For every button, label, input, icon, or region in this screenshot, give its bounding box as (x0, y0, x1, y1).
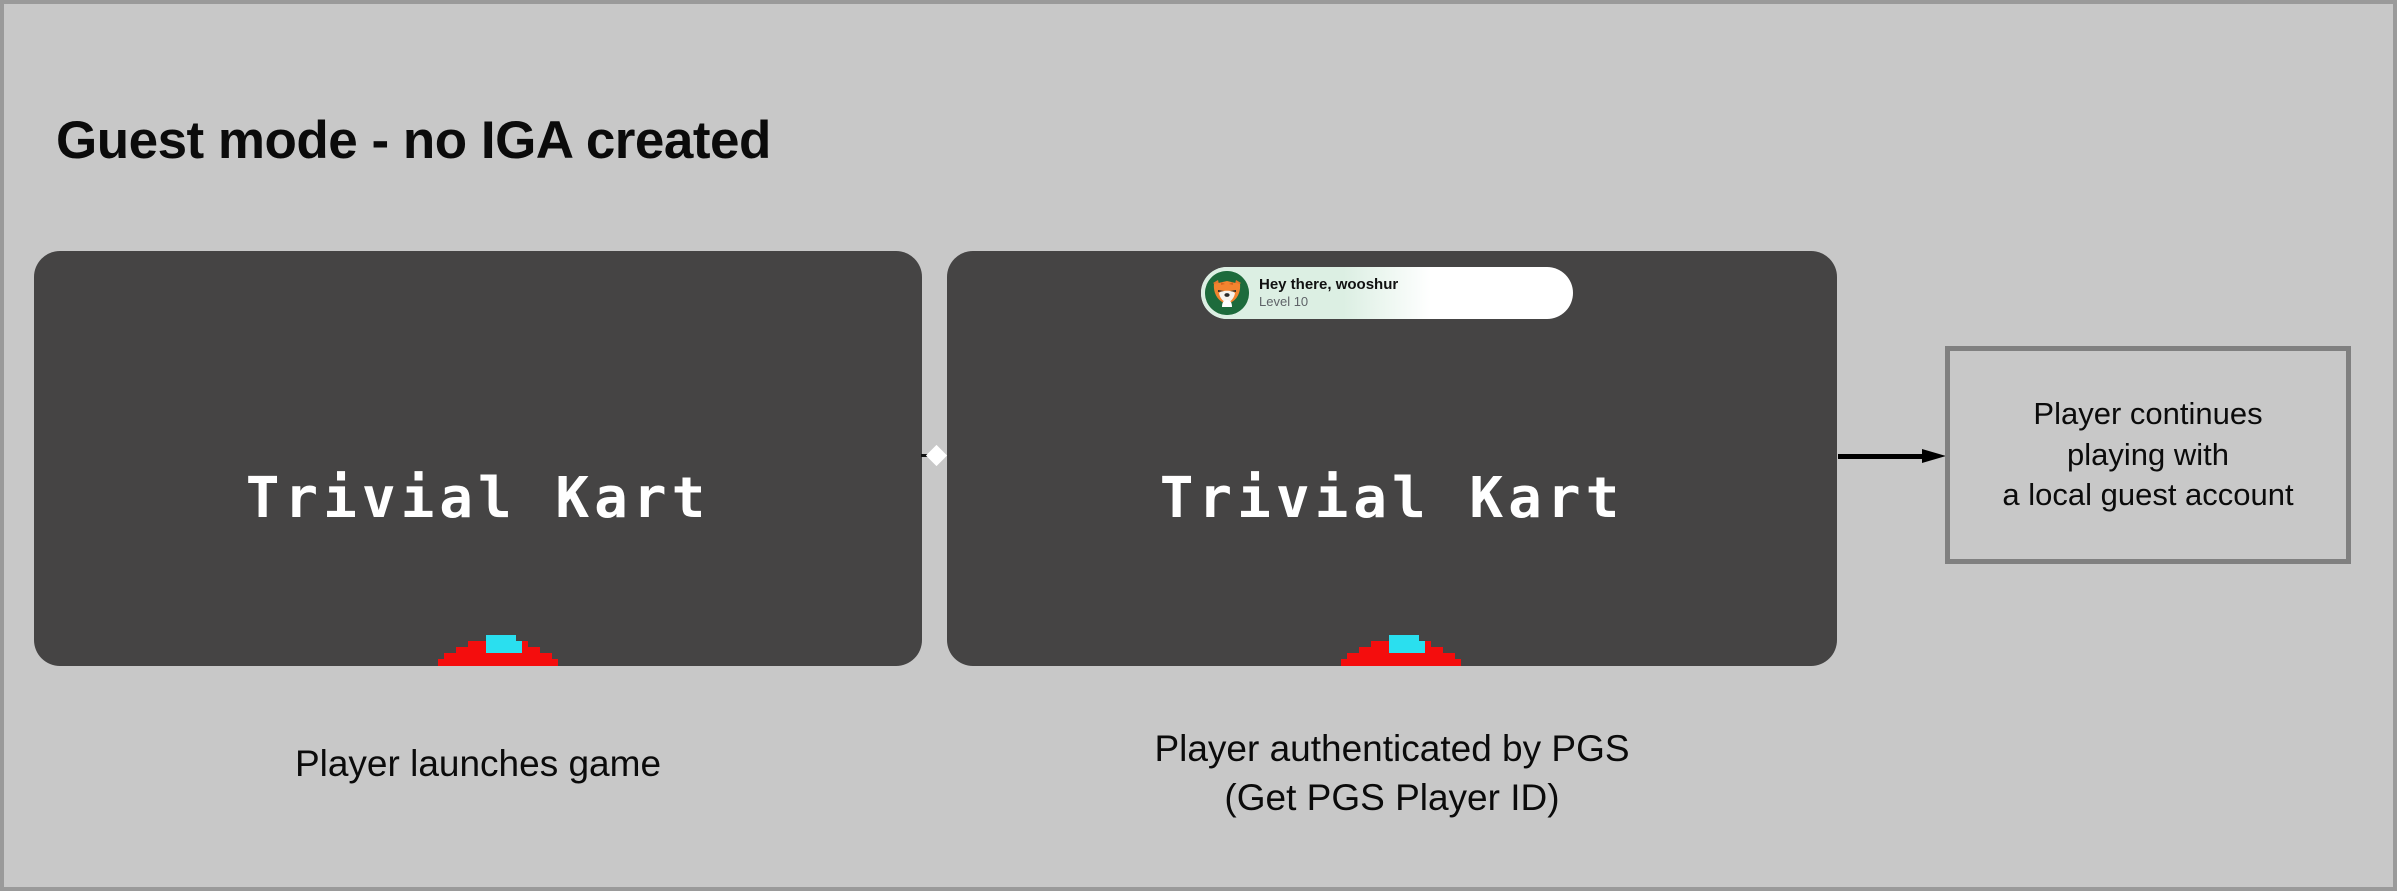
game-logo-authenticated: Trivial Kart (947, 466, 1837, 531)
caption-panel-authenticated: Player authenticated by PGS (Get PGS Pla… (947, 724, 1837, 822)
result-text-group: Player continues playing with a local gu… (2002, 394, 2293, 517)
fox-avatar-icon (1205, 271, 1249, 315)
caption-line-1: Player authenticated by PGS (947, 724, 1837, 773)
diagram-canvas: Guest mode - no IGA created Trivial Kart (0, 0, 2397, 891)
arrow-head (1922, 449, 1946, 463)
result-line-2: playing with (2002, 435, 2293, 476)
result-line-3: a local guest account (2002, 475, 2293, 516)
caption-panel-launch: Player launches game (34, 739, 922, 788)
car-sprite-icon (432, 623, 436, 627)
result-box: Player continues playing with a local gu… (1945, 346, 2351, 564)
caption-line-1: Player launches game (34, 739, 922, 788)
game-panel-launch: Trivial Kart (34, 251, 922, 666)
caption-line-2: (Get PGS Player ID) (947, 773, 1837, 822)
diamond-connector-icon (921, 447, 953, 463)
toast-text-group: Hey there, wooshur Level 10 (1259, 276, 1398, 310)
connector-diamond (926, 445, 947, 466)
arrow-shaft (1838, 454, 1926, 459)
pgs-sign-in-toast[interactable]: Hey there, wooshur Level 10 (1201, 267, 1573, 319)
toast-subtitle: Level 10 (1259, 295, 1398, 310)
result-line-1: Player continues (2002, 394, 2293, 435)
car-sprite-icon (1335, 623, 1339, 627)
right-arrow-icon (1838, 449, 1948, 463)
toast-title: Hey there, wooshur (1259, 276, 1398, 293)
page-title: Guest mode - no IGA created (56, 110, 771, 171)
game-logo-launch: Trivial Kart (34, 466, 922, 531)
game-panel-authenticated: Hey there, wooshur Level 10 Trivial Kart (947, 251, 1837, 666)
